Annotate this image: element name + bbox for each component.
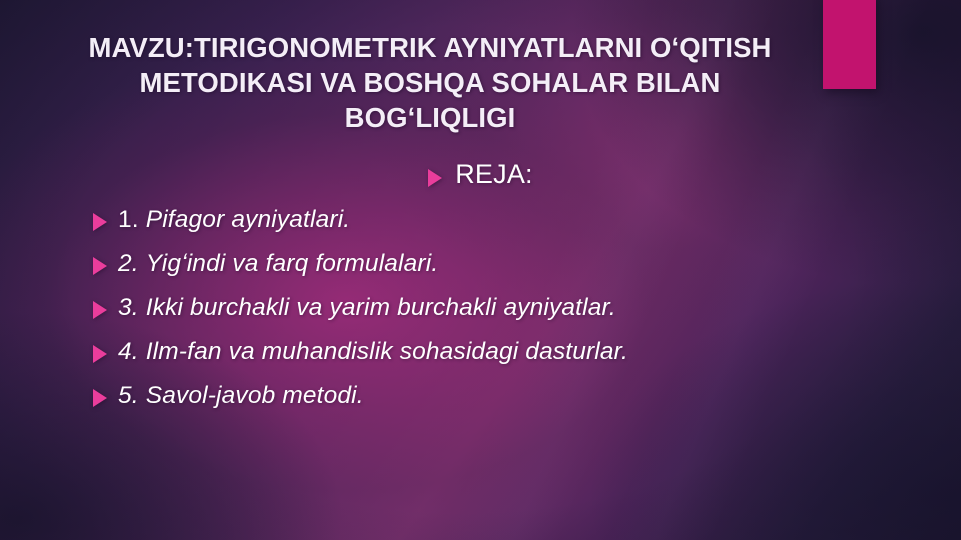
agenda-item-text: 2. Yigʻindi va farq formulalari. [118,249,438,278]
slide-title-line-2: METODIKASI VA BOSHQA SOHALAR BILAN [40,65,820,100]
agenda-item-label: Yigʻindi va farq formulalari. [146,250,439,277]
agenda-item-text: 1. Pifagor ayniyatlari. [118,205,350,234]
triangle-right-bullet-icon [93,301,107,319]
list-item: 5. Savol-javob metodi. [93,381,913,416]
triangle-right-bullet-icon [93,213,107,231]
slide-content: MAVZU:TIRIGONOMETRIK AYNIYATLARNI OʻQITI… [0,0,961,540]
list-item: 1. Pifagor ayniyatlari. [93,205,913,240]
list-item: 2. Yigʻindi va farq formulalari. [93,249,913,284]
agenda-item-label: Ikki burchakli va yarim burchakli ayniya… [146,294,616,321]
agenda-item-number: 2. [118,250,139,277]
triangle-right-bullet-icon [93,257,107,275]
list-item: 4. Ilm-fan va muhandislik sohasidagi das… [93,337,913,372]
triangle-right-bullet-icon [428,169,442,187]
slide-title-line-1: MAVZU:TIRIGONOMETRIK AYNIYATLARNI OʻQITI… [40,30,820,65]
agenda-item-text: 5. Savol-javob metodi. [118,381,364,410]
triangle-right-bullet-icon [93,389,107,407]
agenda-item-text: 3. Ikki burchakli va yarim burchakli ayn… [118,293,616,322]
agenda-item-label: Savol-javob metodi. [146,382,364,409]
slide-title-line-3: BOGʻLIQLIGI [40,100,820,135]
triangle-right-bullet-icon [93,345,107,363]
agenda-item-number: 3. [118,294,139,321]
agenda-item-label: Ilm-fan va muhandislik sohasidagi dastur… [146,338,628,365]
agenda-item-number: 1. [118,206,139,233]
agenda-list: 1. Pifagor ayniyatlari. 2. Yigʻindi va f… [93,205,913,425]
list-item: 3. Ikki burchakli va yarim burchakli ayn… [93,293,913,328]
slide-title: MAVZU:TIRIGONOMETRIK AYNIYATLARNI OʻQITI… [40,30,820,136]
agenda-item-number: 4. [118,338,139,365]
presentation-slide: MAVZU:TIRIGONOMETRIK AYNIYATLARNI OʻQITI… [0,0,961,540]
agenda-heading-label: REJA: [455,160,533,190]
agenda-heading-row: REJA: [0,160,961,190]
agenda-item-label: Pifagor ayniyatlari. [146,206,351,233]
agenda-item-number: 5. [118,382,139,409]
agenda-item-text: 4. Ilm-fan va muhandislik sohasidagi das… [118,337,628,366]
